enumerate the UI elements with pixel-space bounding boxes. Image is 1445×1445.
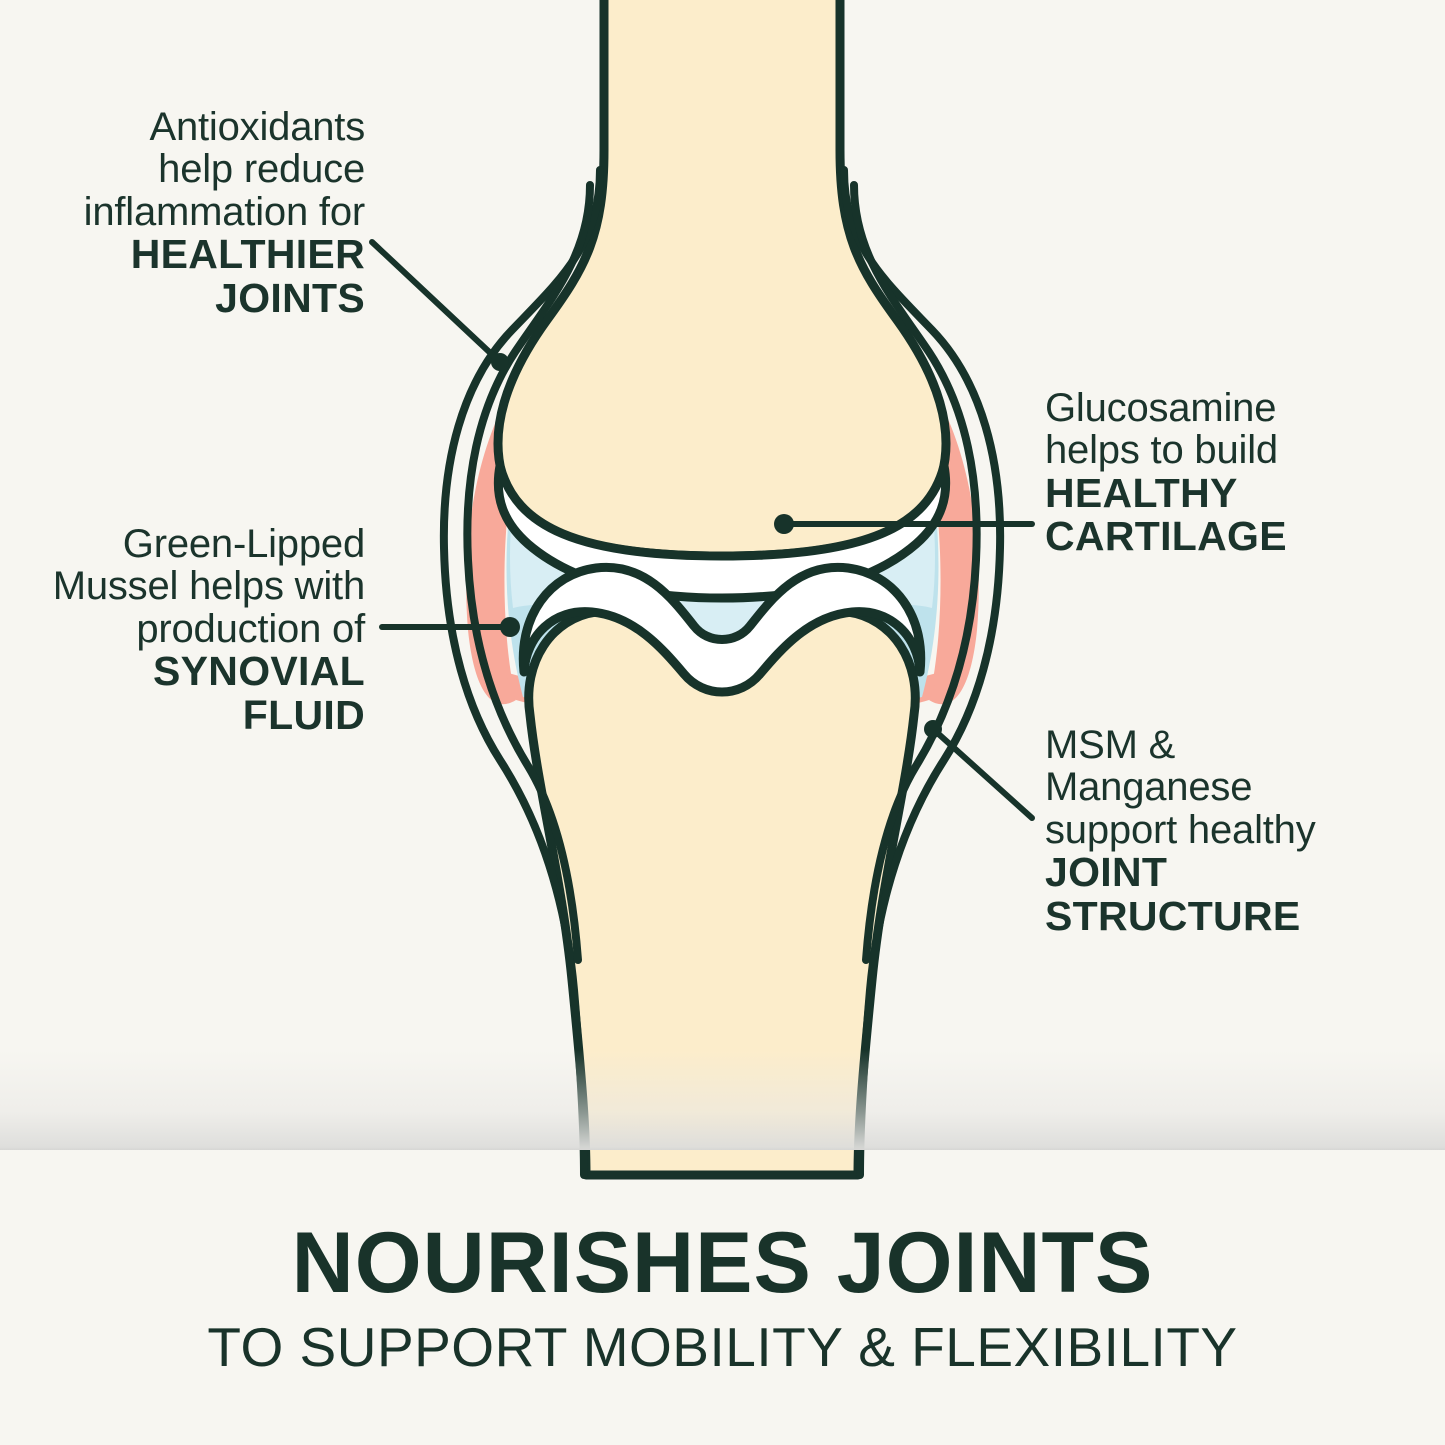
callout-emphasis: HEALTHY: [1045, 472, 1435, 515]
banner-subline: TO SUPPORT MOBILITY & FLEXIBILITY: [207, 1320, 1237, 1375]
gold-banner: NOURISHES JOINTS TO SUPPORT MOBILITY & F…: [0, 1150, 1445, 1445]
callout-line: MSM &: [1045, 724, 1435, 766]
callout-line: inflammation for: [20, 191, 365, 233]
callout-glucosamine: Glucosamine helps to build HEALTHY CARTI…: [1045, 387, 1435, 559]
callout-line: production of: [20, 608, 365, 650]
callout-line: helps to build: [1045, 429, 1435, 471]
leader-line-antioxidants: [372, 242, 500, 362]
leader-dot-msm: [924, 720, 942, 738]
callout-emphasis: SYNOVIAL: [20, 650, 365, 693]
callout-line: Manganese: [1045, 766, 1435, 808]
callout-line: Mussel helps with: [20, 565, 365, 607]
leader-dot-glucosamine: [774, 514, 794, 534]
callout-emphasis: STRUCTURE: [1045, 895, 1435, 938]
callout-emphasis: JOINT: [1045, 851, 1435, 894]
callout-antioxidants: Antioxidants help reduce inflammation fo…: [20, 106, 365, 320]
infographic-page: Antioxidants help reduce inflammation fo…: [0, 0, 1445, 1445]
banner-headline: NOURISHES JOINTS: [292, 1220, 1154, 1306]
callout-line: Green-Lipped: [20, 523, 365, 565]
callout-emphasis: JOINTS: [20, 277, 365, 320]
leader-line-msm: [933, 729, 1032, 818]
callout-emphasis: HEALTHIER: [20, 233, 365, 276]
callout-emphasis: CARTILAGE: [1045, 515, 1435, 558]
callout-line: Antioxidants: [20, 106, 365, 148]
callout-line: Glucosamine: [1045, 387, 1435, 429]
callout-line: help reduce: [20, 148, 365, 190]
leader-dot-mussel: [500, 617, 520, 637]
leader-dot-antioxidants: [491, 353, 509, 371]
callout-emphasis: FLUID: [20, 694, 365, 737]
callout-green-lipped-mussel: Green-Lipped Mussel helps with productio…: [20, 523, 365, 737]
callout-line: support healthy: [1045, 809, 1435, 851]
callout-msm-manganese: MSM & Manganese support healthy JOINT ST…: [1045, 724, 1435, 938]
